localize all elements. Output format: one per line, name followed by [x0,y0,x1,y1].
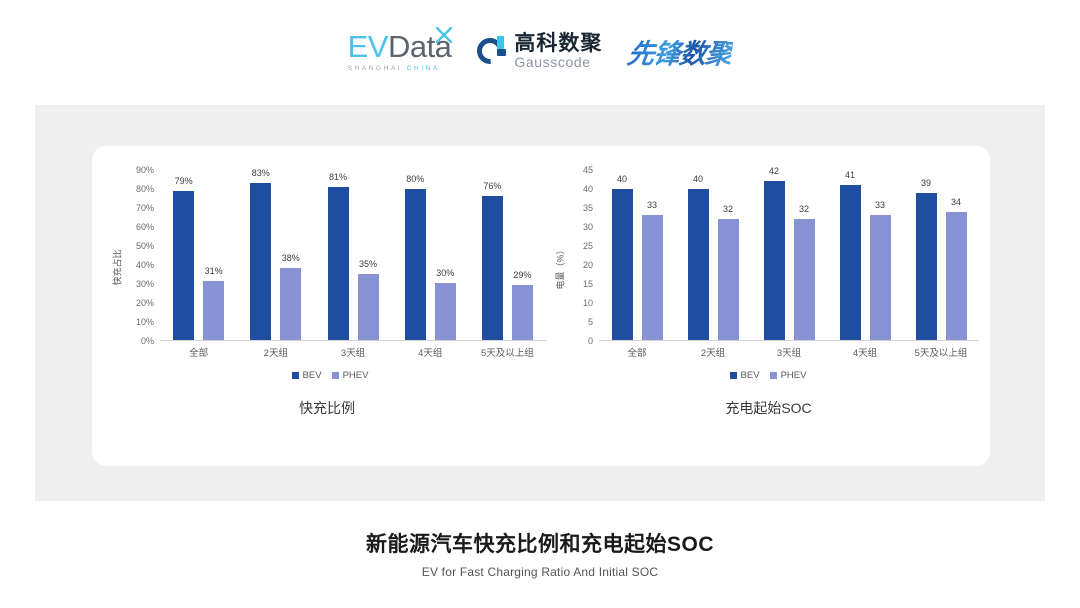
bar-bev[interactable]: 40 [612,189,633,340]
evdata-subtitle: SHANGHAI CHINA [348,65,440,72]
y-tick-label: 40 [583,184,593,194]
y-tick-label: 60% [136,222,154,232]
x-tick-label: 全部 [599,345,675,363]
chart-fast-charging-ratio: 快充占比 0%10%20%30%40%50%60%70%80%90% 79%31… [92,146,562,466]
legend-item-bev[interactable]: BEV [730,370,760,381]
bar-value-label: 76% [483,181,501,191]
legend-swatch-bev-icon [292,372,299,379]
y-tick-label: 0 [588,336,593,346]
bar-bev[interactable]: 81% [328,187,349,340]
bar-value-label: 80% [406,174,424,184]
legend-item-phev[interactable]: PHEV [332,370,369,381]
x-tick-label: 5天及以上组 [903,345,979,363]
evdata-ev-text: EV [348,29,388,64]
gausscode-en-text: Gausscode [514,55,602,69]
bar-phev[interactable]: 30% [435,283,456,340]
bar-group: 76%29% [469,170,546,340]
y-tick-label: 20% [136,298,154,308]
y-tick-label: 0% [141,336,154,346]
bar-phev[interactable]: 31% [203,281,224,340]
bar-value-label: 40 [617,174,627,184]
bar-phev[interactable]: 33 [870,215,891,340]
evdata-logo: EVData SHANGHAI CHINA [348,31,452,72]
legend-item-bev[interactable]: BEV [292,370,322,381]
bar-value-label: 30% [436,268,454,278]
g-navy-bar-shape [497,49,506,56]
bar-phev[interactable]: 32 [794,219,815,340]
bar-value-label: 81% [329,172,347,182]
legend-item-phev[interactable]: PHEV [770,370,807,381]
bar-bev[interactable]: 76% [482,196,503,340]
subchart-title-right: 充电起始SOC [547,398,990,418]
legend-label-phev: PHEV [781,370,807,381]
y-tick-label: 80% [136,184,154,194]
legend-label-phev: PHEV [343,370,369,381]
evdata-sub-china: CHINA [407,65,440,72]
y-tick-label: 40% [136,260,154,270]
bars-plot-left: 79%31%83%38%81%35%80%30%76%29% [160,170,546,341]
y-tick-label: 50% [136,241,154,251]
y-tick-label: 25 [583,241,593,251]
bar-group: 4032 [675,170,751,340]
y-tick-label: 45 [583,165,593,175]
legend-right: BEV PHEV [553,370,983,381]
y-tick-label: 30% [136,279,154,289]
subchart-title-left: 快充比例 [92,398,562,418]
bar-group: 83%38% [237,170,314,340]
legend-swatch-phev-icon [770,372,777,379]
y-axis-ticks-left: 0%10%20%30%40%50%60%70%80%90% [124,170,158,341]
y-tick-label: 70% [136,203,154,213]
plot-area-left: 快充占比 0%10%20%30%40%50%60%70%80%90% 79%31… [110,160,550,375]
g-cyan-bar-shape [497,36,504,49]
gausscode-logo: 高科数聚 Gausscode [477,33,602,69]
y-tick-label: 10 [583,298,593,308]
bar-value-label: 83% [252,168,270,178]
x-tick-label: 3天组 [751,345,827,363]
x-axis-ticks-left: 全部2天组3天组4天组5天及以上组 [160,345,546,363]
bar-group: 4232 [751,170,827,340]
y-axis-ticks-right: 051015202530354045 [563,170,597,341]
y-tick-label: 5 [588,317,593,327]
gausscode-cn-text: 高科数聚 [514,33,602,54]
x-tick-label: 5天及以上组 [469,345,546,363]
x-tick-label: 全部 [160,345,237,363]
bar-group: 81%35% [314,170,391,340]
x-tick-label: 4天组 [392,345,469,363]
x-axis-ticks-right: 全部2天组3天组4天组5天及以上组 [599,345,979,363]
y-tick-label: 20 [583,260,593,270]
y-tick-label: 30 [583,222,593,232]
y-tick-label: 15 [583,279,593,289]
plot-area-right: 电量（%） 051015202530354045 403340324232413… [553,160,983,375]
bar-value-label: 38% [282,253,300,263]
legend-label-bev: BEV [303,370,322,381]
bar-value-label: 33 [647,200,657,210]
bar-value-label: 32 [799,204,809,214]
evdata-wordmark: EVData [348,31,452,62]
bar-bev[interactable]: 79% [173,191,194,340]
y-tick-label: 90% [136,165,154,175]
bar-value-label: 31% [205,266,223,276]
xianfeng-logo: 先锋数聚 [628,32,732,71]
bar-value-label: 32 [723,204,733,214]
bar-value-label: 33 [875,200,885,210]
legend-label-bev: BEV [741,370,760,381]
bar-phev[interactable]: 32 [718,219,739,340]
bar-value-label: 42 [769,166,779,176]
bar-phev[interactable]: 34 [946,212,967,340]
x-tick-label: 4天组 [827,345,903,363]
x-tick-label: 2天组 [237,345,314,363]
logo-bar: EVData SHANGHAI CHINA 高科数聚 Gausscode 先锋数… [0,22,1080,80]
y-axis-label-left: 快充占比 [110,160,124,375]
bar-bev[interactable]: 83% [250,183,271,340]
bar-phev[interactable]: 35% [358,274,379,340]
bar-phev[interactable]: 33 [642,215,663,340]
bar-phev[interactable]: 38% [280,268,301,340]
bar-value-label: 41 [845,170,855,180]
bar-bev[interactable]: 80% [405,189,426,340]
caption-subtitle: EV for Fast Charging Ratio And Initial S… [0,565,1080,579]
bar-group: 4033 [599,170,675,340]
legend-left: BEV PHEV [110,370,550,381]
x-cross-icon [434,25,454,45]
g-circle-icon [477,36,507,66]
bar-value-label: 35% [359,259,377,269]
bar-value-label: 39 [921,178,931,188]
bar-group: 80%30% [392,170,469,340]
xianfeng-cn-text: 先锋数聚 [626,32,735,71]
gausscode-wordmark: 高科数聚 Gausscode [514,33,602,69]
x-tick-label: 2天组 [675,345,751,363]
legend-swatch-bev-icon [730,372,737,379]
bar-value-label: 34 [951,197,961,207]
bar-bev[interactable]: 40 [688,189,709,340]
figure-caption: 新能源汽车快充比例和充电起始SOC EV for Fast Charging R… [0,528,1080,579]
x-tick-label: 3天组 [314,345,391,363]
charts-card: 快充占比 0%10%20%30%40%50%60%70%80%90% 79%31… [92,146,990,466]
y-tick-label: 10% [136,317,154,327]
evdata-sub-shanghai: SHANGHAI [348,65,407,72]
bar-groups-left: 79%31%83%38%81%35%80%30%76%29% [160,170,546,340]
chart-initial-soc: 电量（%） 051015202530354045 403340324232413… [547,146,990,466]
bar-bev[interactable]: 42 [764,181,785,340]
bar-value-label: 29% [513,270,531,280]
bar-phev[interactable]: 29% [512,285,533,340]
y-tick-label: 35 [583,203,593,213]
bar-groups-right: 40334032423241333934 [599,170,979,340]
bar-group: 3934 [903,170,979,340]
bar-group: 79%31% [160,170,237,340]
bar-value-label: 40 [693,174,703,184]
bar-group: 4133 [827,170,903,340]
bar-bev[interactable]: 39 [916,193,937,340]
bars-plot-right: 40334032423241333934 [599,170,979,341]
legend-swatch-phev-icon [332,372,339,379]
bar-value-label: 79% [175,176,193,186]
caption-title: 新能源汽车快充比例和充电起始SOC [0,528,1080,558]
bar-bev[interactable]: 41 [840,185,861,340]
